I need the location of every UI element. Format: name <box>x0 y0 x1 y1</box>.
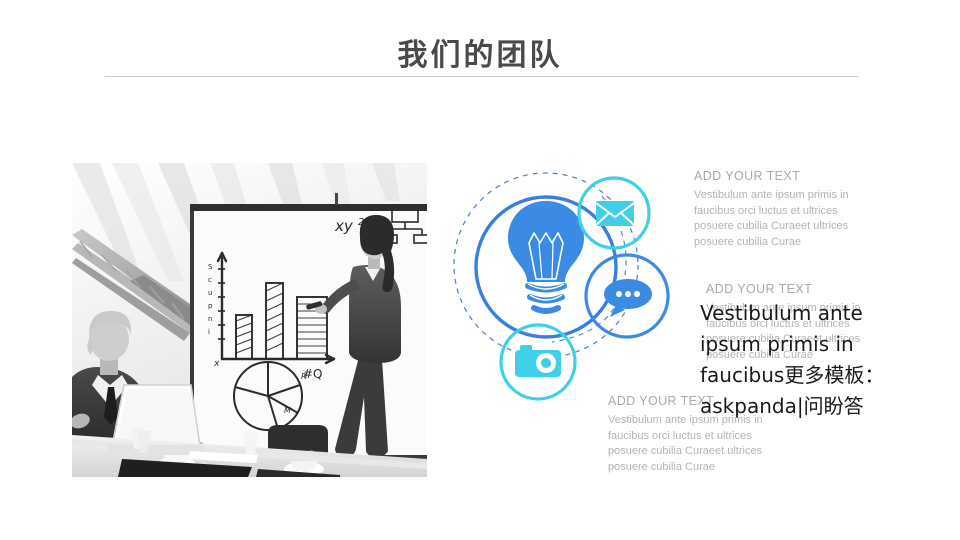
svg-text:i: i <box>208 328 210 336</box>
text-line: posuere cubilia Curaeet ultrices <box>694 219 894 235</box>
text-line: Vestibulum ante ipsum primis in <box>694 188 894 204</box>
text-line: posuere cubilia Curae <box>694 235 894 251</box>
text-block-1: ADD YOUR TEXT Vestibulum ante ipsum prim… <box>694 169 894 250</box>
lightbulb-icon <box>508 201 584 311</box>
team-photo-illustration: xy 2 ½ R M x #Q Scu pni <box>72 163 427 477</box>
text-block-2: ADD YOUR TEXT Vestibulum ante ipsum prim… <box>706 282 916 363</box>
svg-text:M: M <box>284 406 291 415</box>
chat-node <box>586 255 668 337</box>
camera-icon <box>515 345 561 377</box>
text-block-2-heading: ADD YOUR TEXT <box>706 282 916 296</box>
text-block-2-body: Vestibulum ante ipsum primis in faucibus… <box>706 301 916 363</box>
text-line: posuere cubilia Curae <box>608 460 808 476</box>
svg-text:p: p <box>208 302 213 310</box>
text-line: posuere cubilia Curaeet ultrices <box>706 332 916 348</box>
slide-canvas: 我们的团队 <box>0 0 960 540</box>
title-divider <box>105 76 858 77</box>
svg-text:#Q: #Q <box>303 367 323 381</box>
infographic-diagram <box>450 160 695 410</box>
envelope-icon <box>596 201 634 226</box>
text-block-1-body: Vestibulum ante ipsum primis in faucibus… <box>694 188 894 250</box>
svg-text:n: n <box>208 315 212 323</box>
svg-text:u: u <box>208 289 212 297</box>
svg-text:c: c <box>208 276 212 284</box>
text-block-1-heading: ADD YOUR TEXT <box>694 169 894 183</box>
text-line: faucibus orci luctus et ultrices <box>706 317 916 333</box>
text-block-3-body: Vestibulum ante ipsum primis in faucibus… <box>608 413 808 475</box>
page-title: 我们的团队 <box>0 30 960 74</box>
text-line: Vestibulum ante ipsum primis in <box>706 301 916 317</box>
text-line: faucibus orci luctus et ultrices <box>608 429 808 445</box>
text-line: posuere cubilia Curaeet ultrices <box>608 444 808 460</box>
text-block-3-heading: ADD YOUR TEXT <box>608 394 808 408</box>
text-line: posuere cubilia Curae <box>706 348 916 364</box>
svg-text:x: x <box>213 359 220 369</box>
watermark-line: faucibus更多模板： <box>700 360 950 391</box>
svg-text:xy: xy <box>334 217 354 235</box>
text-line: Vestibulum ante ipsum primis in <box>608 413 808 429</box>
team-photo: xy 2 ½ R M x #Q Scu pni <box>72 163 427 477</box>
svg-text:S: S <box>208 263 213 271</box>
text-block-3: ADD YOUR TEXT Vestibulum ante ipsum prim… <box>608 394 808 475</box>
text-line: faucibus orci luctus et ultrices <box>694 204 894 220</box>
